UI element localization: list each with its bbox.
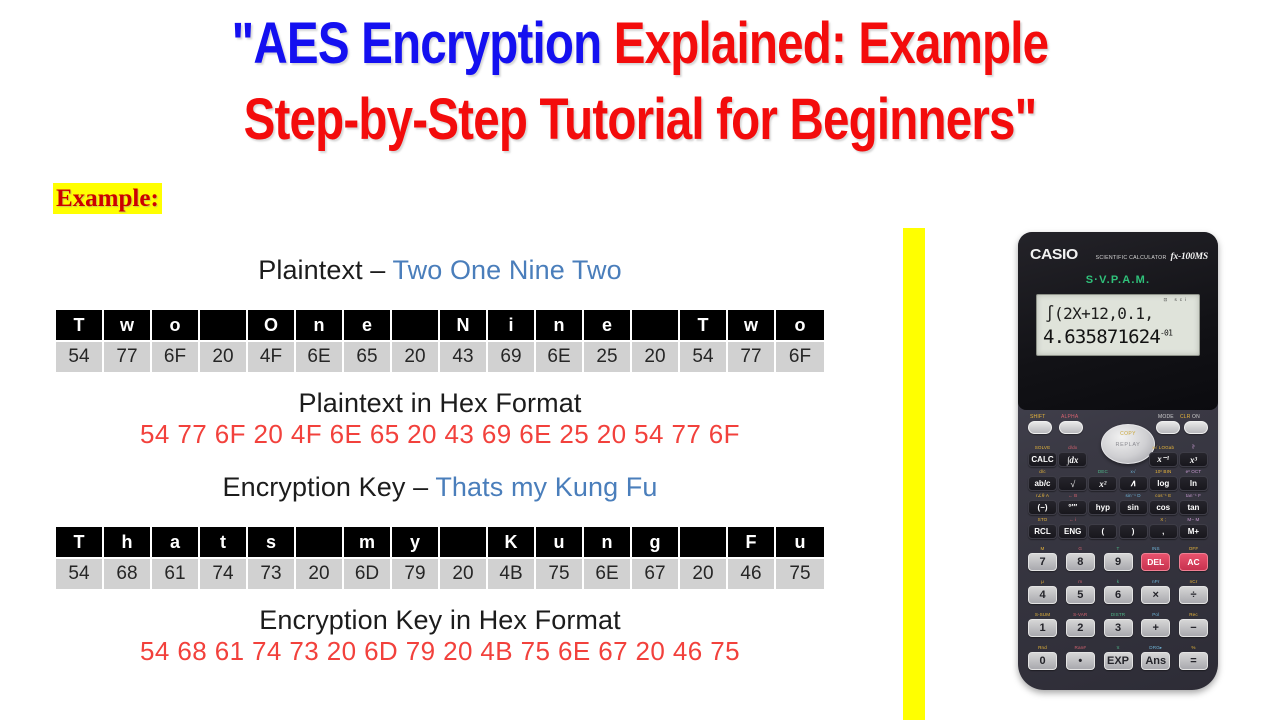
calculator-key-DEL[interactable]: DEL [1141, 553, 1170, 571]
key-sublabel: nPr [1141, 579, 1170, 584]
calculator-key-sym[interactable]: ∧ [1119, 476, 1148, 491]
byte-char-cell [440, 527, 488, 557]
key-sublabel-row: μmknPrnCr [1028, 579, 1208, 584]
example-label: Example: [53, 183, 162, 214]
calculator-key-RCL[interactable]: RCL [1028, 524, 1057, 539]
byte-char-cell: n [296, 310, 344, 340]
alpha-key[interactable] [1059, 421, 1083, 434]
calculator-key-sym[interactable]: ÷ [1179, 586, 1208, 604]
yellow-divider-bar [903, 228, 925, 720]
key-heading-value: Thats my Kung Fu [435, 472, 657, 502]
byte-char-cell: t [200, 527, 248, 557]
calculator-key-3[interactable]: 3 [1104, 619, 1133, 637]
calculator-key-dx[interactable]: ∫dx [1058, 452, 1087, 467]
byte-char-cell: a [152, 527, 200, 557]
calculator-top-keys: SHIFT ALPHA COPY REPLAY MODE CLR ON [1028, 420, 1208, 440]
byte-hex-cell: 6D [344, 559, 392, 589]
key-sublabel [1119, 517, 1148, 522]
key-sublabel: T [1104, 546, 1133, 551]
key-row: ab/c√x²∧logln [1028, 476, 1208, 491]
key-hex-row: 5468617473206D79204B756E67204675 [56, 559, 824, 589]
key-row: CALC∫dxx⁻¹x³ [1028, 452, 1208, 467]
calculator-key-AC[interactable]: AC [1179, 553, 1208, 571]
calculator-key-ln[interactable]: ln [1179, 476, 1208, 491]
key-sublabel: Pol [1141, 612, 1170, 617]
key-sublabel: d/c [1028, 469, 1057, 474]
key-sublabel [1119, 445, 1148, 451]
encryption-key-section: Encryption Key – Thats my Kung Fu Thatsm… [0, 472, 880, 667]
plaintext-char-row: TwoOneNineTwo [56, 310, 824, 340]
key-char-row: ThatsmyKungFu [56, 527, 824, 557]
byte-char-cell: m [344, 527, 392, 557]
copy-label: COPY [1101, 431, 1155, 437]
key-sublabel: μ [1028, 579, 1057, 584]
byte-char-cell [632, 310, 680, 340]
byte-char-cell: h [104, 527, 152, 557]
calculator-key-8[interactable]: 8 [1066, 553, 1095, 571]
key-sublabel: x√ [1119, 469, 1148, 474]
plaintext-hex-string: 54 77 6F 20 4F 6E 65 20 43 69 6E 25 20 5… [0, 419, 880, 450]
byte-hex-cell: 46 [728, 559, 776, 589]
calculator-key-Ans[interactable]: Ans [1141, 652, 1170, 670]
byte-char-cell: i [488, 310, 536, 340]
calculator-display: ⊡ sci ∫(2X+12,0.1, 4.635871624-01 [1036, 294, 1200, 356]
key-row: RCLENG(),M+ [1028, 524, 1208, 539]
plaintext-heading-value: Two One Nine Two [393, 255, 622, 285]
byte-hex-cell: 6E [584, 559, 632, 589]
on-key[interactable] [1184, 421, 1208, 434]
calculator-key-9[interactable]: 9 [1104, 553, 1133, 571]
key-sublabel: Rec [1179, 612, 1208, 617]
key-heading-label: Encryption Key – [222, 472, 435, 502]
plaintext-section: Plaintext – Two One Nine Two TwoOneNineT… [0, 255, 880, 450]
byte-hex-cell: 54 [56, 342, 104, 372]
calculator-key-cos[interactable]: cos [1149, 500, 1178, 515]
byte-hex-cell: 77 [728, 342, 776, 372]
byte-char-cell: T [56, 527, 104, 557]
byte-hex-cell: 69 [488, 342, 536, 372]
byte-hex-cell: 54 [680, 342, 728, 372]
key-sublabel [1088, 493, 1117, 499]
byte-char-cell: F [728, 527, 776, 557]
byte-char-cell: e [584, 310, 632, 340]
alpha-label: ALPHA [1061, 414, 1078, 420]
byte-char-cell: y [392, 527, 440, 557]
byte-hex-cell: 54 [56, 559, 104, 589]
key-sublabel: % [1179, 645, 1208, 651]
byte-hex-cell: 61 [152, 559, 200, 589]
byte-hex-cell: 73 [248, 559, 296, 589]
key-sublabel: tan⁻¹ F [1179, 493, 1208, 499]
key-sublabel: k [1104, 579, 1133, 584]
key-sublabel: ∛ [1179, 445, 1208, 451]
calculator-key-EXP[interactable]: EXP [1104, 652, 1133, 670]
shift-key[interactable] [1028, 421, 1052, 434]
calculator-key-sym[interactable]: • [1066, 652, 1095, 670]
byte-hex-cell: 6E [536, 342, 584, 372]
title-part-blue: "AES Encryption [232, 11, 614, 76]
key-sublabel: G [1066, 546, 1095, 551]
calculator-key-abc[interactable]: ab/c [1028, 476, 1057, 491]
byte-hex-cell: 65 [344, 342, 392, 372]
calculator-key-sym[interactable]: (−) [1028, 500, 1057, 515]
mode-label: MODE [1158, 414, 1174, 420]
calculator-key-2[interactable]: 2 [1066, 619, 1095, 637]
key-row: (−)°′″hypsincostan [1028, 500, 1208, 515]
byte-char-cell: n [536, 310, 584, 340]
byte-char-cell [200, 310, 248, 340]
key-sublabel: cos⁻¹ E [1149, 493, 1178, 499]
byte-hex-cell: 20 [296, 559, 344, 589]
key-row: 456×÷ [1028, 586, 1208, 604]
key-sublabel: X ; [1149, 517, 1178, 522]
byte-char-cell: u [536, 527, 584, 557]
calculator-key-sym[interactable]: ) [1119, 524, 1148, 539]
calculator-key-ENG[interactable]: ENG [1058, 524, 1087, 539]
shift-label: SHIFT [1030, 414, 1045, 420]
plaintext-byte-table: TwoOneNineTwo 54776F204F6E652043696E2520… [56, 310, 824, 372]
key-sublabel: r∠θ A [1028, 493, 1057, 499]
key-row: 789DELAC [1028, 553, 1208, 571]
byte-hex-cell: 75 [776, 559, 824, 589]
key-sublabel-row: S-SUMS-VARDISTRPolRec [1028, 612, 1208, 617]
on-label: ON [1192, 414, 1200, 420]
key-sublabel-row: STO← iX ;M− M [1028, 517, 1208, 522]
calculator-key-x[interactable]: x³ [1179, 452, 1208, 467]
casio-calculator: CASIO SCIENTIFIC CALCULATOR fx-100MS S·V… [1018, 232, 1218, 690]
calculator-key-x[interactable]: x² [1088, 476, 1117, 491]
key-sublabel: Rnd [1028, 645, 1057, 651]
key-sublabel: OFF [1179, 546, 1208, 551]
key-sublabel-row: d/cDECx√10ˣ BINeˣ OCT [1028, 469, 1208, 474]
key-sublabel: π [1104, 645, 1133, 651]
display-line-2: 4.635871624-01 [1043, 326, 1195, 348]
key-sublabel: ← B [1058, 493, 1087, 499]
byte-char-cell [680, 527, 728, 557]
calculator-key-sym[interactable]: °′″ [1058, 500, 1087, 515]
calculator-key-4[interactable]: 4 [1028, 586, 1057, 604]
calculator-key-sym[interactable]: × [1141, 586, 1170, 604]
calculator-model: fx-100MS [1171, 252, 1208, 262]
byte-char-cell: T [56, 310, 104, 340]
key-sublabel [1088, 445, 1117, 451]
byte-hex-cell: 75 [536, 559, 584, 589]
mode-key[interactable] [1156, 421, 1180, 434]
byte-char-cell: u [776, 527, 824, 557]
key-hex-caption: Encryption Key in Hex Format [0, 605, 880, 636]
casio-logo: CASIO [1030, 246, 1078, 263]
byte-char-cell: T [680, 310, 728, 340]
key-sublabel: DEC [1088, 469, 1117, 474]
calculator-key-sym[interactable]: = [1179, 652, 1208, 670]
byte-char-cell: K [488, 527, 536, 557]
byte-hex-cell: 68 [104, 559, 152, 589]
calculator-key-sin[interactable]: sin [1119, 500, 1148, 515]
byte-char-cell: w [104, 310, 152, 340]
calculator-subtitle: SCIENTIFIC CALCULATOR [1096, 255, 1167, 261]
byte-hex-cell: 20 [200, 342, 248, 372]
content-panel: Plaintext – Two One Nine Two TwoOneNineT… [0, 255, 880, 667]
key-row: 0•EXPAns= [1028, 652, 1208, 670]
clr-label: CLR [1180, 414, 1191, 420]
byte-hex-cell: 20 [392, 342, 440, 372]
byte-char-cell: O [248, 310, 296, 340]
calculator-key-tan[interactable]: tan [1179, 500, 1208, 515]
byte-hex-cell: 25 [584, 342, 632, 372]
key-sublabel: INS [1141, 546, 1170, 551]
plaintext-heading-label: Plaintext – [258, 255, 392, 285]
key-sublabel: SOLVE [1028, 445, 1057, 451]
calculator-key-7[interactable]: 7 [1028, 553, 1057, 571]
byte-hex-cell: 6F [152, 342, 200, 372]
byte-char-cell [392, 310, 440, 340]
byte-hex-cell: 67 [632, 559, 680, 589]
svpam-badge: S·V.P.A.M. [1018, 274, 1218, 286]
byte-hex-cell: 77 [104, 342, 152, 372]
key-sublabel: S-SUM [1028, 612, 1057, 617]
key-sublabel: x√ LOGab [1149, 445, 1178, 451]
key-byte-table: ThatsmyKungFu 5468617473206D79204B756E67… [56, 527, 824, 589]
calculator-keypad: SHIFT ALPHA COPY REPLAY MODE CLR ON SOLV… [1018, 408, 1218, 690]
key-hex-string: 54 68 61 74 73 20 6D 79 20 4B 75 6E 67 2… [0, 636, 880, 667]
byte-hex-cell: 20 [632, 342, 680, 372]
slide-title: "AES Encryption Explained: Example Step-… [0, 6, 1280, 158]
byte-hex-cell: 6E [296, 342, 344, 372]
key-sublabel [1088, 517, 1117, 522]
display-line-1: ∫(2X+12,0.1, [1045, 304, 1195, 323]
calculator-key-sym[interactable]: √ [1058, 476, 1087, 491]
byte-char-cell: o [776, 310, 824, 340]
byte-hex-cell: 20 [440, 559, 488, 589]
plaintext-heading: Plaintext – Two One Nine Two [0, 255, 880, 286]
byte-hex-cell: 6F [776, 342, 824, 372]
calculator-key-hyp[interactable]: hyp [1088, 500, 1117, 515]
plaintext-hex-caption: Plaintext in Hex Format [0, 388, 880, 419]
calculator-key-sym[interactable]: , [1149, 524, 1178, 539]
key-sublabel: nCr [1179, 579, 1208, 584]
byte-char-cell: n [584, 527, 632, 557]
key-sublabel: d/dx [1058, 445, 1087, 451]
calculator-key-sym[interactable]: ( [1088, 524, 1117, 539]
key-sublabel: m [1066, 579, 1095, 584]
key-sublabel: M− M [1179, 517, 1208, 522]
byte-char-cell: o [152, 310, 200, 340]
key-sublabel: 10ˣ BIN [1149, 469, 1178, 474]
byte-hex-cell: 74 [200, 559, 248, 589]
key-sublabel: STO [1028, 517, 1057, 522]
byte-char-cell: g [632, 527, 680, 557]
title-line-2: Step-by-Step Tutorial for Beginners" [115, 82, 1165, 158]
calculator-key-0[interactable]: 0 [1028, 652, 1057, 670]
calculator-key-CALC[interactable]: CALC [1028, 452, 1057, 467]
key-heading: Encryption Key – Thats my Kung Fu [0, 472, 880, 503]
calculator-key-1[interactable]: 1 [1028, 619, 1057, 637]
slide-root: "AES Encryption Explained: Example Step-… [0, 0, 1280, 720]
byte-char-cell: s [248, 527, 296, 557]
key-sublabel: M [1028, 546, 1057, 551]
byte-char-cell: N [440, 310, 488, 340]
key-sublabel: eˣ OCT [1179, 469, 1208, 474]
key-sublabel: sin⁻¹ D [1119, 493, 1148, 499]
byte-hex-cell: 4B [488, 559, 536, 589]
key-sublabel: DRG▸ [1141, 645, 1170, 651]
byte-hex-cell: 79 [392, 559, 440, 589]
byte-char-cell [296, 527, 344, 557]
key-sublabel-row: SOLVEd/dxx√ LOGab∛ [1028, 445, 1208, 451]
calculator-key-x[interactable]: x⁻¹ [1149, 452, 1178, 467]
display-result: 4.635871624 [1043, 326, 1160, 348]
key-sublabel-row: MGTINSOFF [1028, 546, 1208, 551]
key-sublabel: S-VAR [1066, 612, 1095, 617]
calculator-key-M[interactable]: M+ [1179, 524, 1208, 539]
calculator-key-log[interactable]: log [1149, 476, 1178, 491]
byte-hex-cell: 4F [248, 342, 296, 372]
calculator-key-sym[interactable]: + [1141, 619, 1170, 637]
key-sublabel: Ran# [1066, 645, 1095, 651]
byte-char-cell: w [728, 310, 776, 340]
calculator-brand-row: CASIO SCIENTIFIC CALCULATOR fx-100MS [1030, 246, 1208, 263]
byte-char-cell: e [344, 310, 392, 340]
key-sublabel-row: RndRan#πDRG▸% [1028, 645, 1208, 651]
key-sublabel: ← i [1058, 517, 1087, 522]
title-part-red: Explained: Example [614, 11, 1049, 76]
key-row: 123+− [1028, 619, 1208, 637]
key-sublabel-row: r∠θ A← Bsin⁻¹ Dcos⁻¹ Etan⁻¹ F [1028, 493, 1208, 499]
byte-hex-cell: 20 [680, 559, 728, 589]
byte-hex-cell: 43 [440, 342, 488, 372]
calculator-key-sym[interactable]: − [1179, 619, 1208, 637]
calculator-key-5[interactable]: 5 [1066, 586, 1095, 604]
display-flags: ⊡ sci [1163, 297, 1189, 303]
plaintext-hex-row: 54776F204F6E652043696E252054776F [56, 342, 824, 372]
display-exponent: -01 [1160, 329, 1172, 338]
key-sublabel [1058, 469, 1087, 474]
calculator-faceplate: CASIO SCIENTIFIC CALCULATOR fx-100MS S·V… [1018, 232, 1218, 410]
title-line-1: "AES Encryption Explained: Example [115, 6, 1165, 82]
key-sublabel: DISTR [1104, 612, 1133, 617]
calculator-key-6[interactable]: 6 [1104, 586, 1133, 604]
